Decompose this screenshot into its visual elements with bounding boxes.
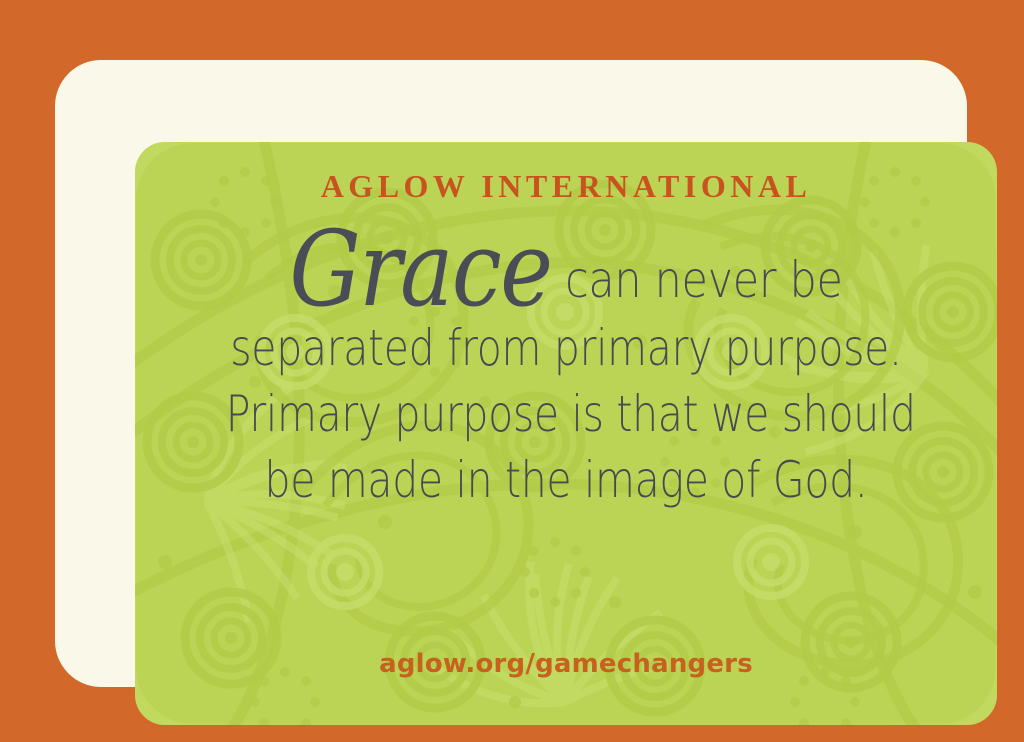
quote-line-1: Grace can never be — [209, 224, 923, 315]
cream-frame: AGLOW INTERNATIONAL Grace can never be s… — [55, 60, 967, 687]
quote-line-4: be made in the image of God. — [226, 447, 907, 513]
quote-line-1-rest: can never be — [565, 245, 842, 315]
organization-name: AGLOW INTERNATIONAL — [321, 170, 812, 202]
website-url[interactable]: aglow.org/gamechangers — [135, 649, 997, 679]
quote-block: Grace can never be separated from primar… — [151, 224, 981, 513]
green-card: AGLOW INTERNATIONAL Grace can never be s… — [135, 142, 997, 725]
script-word-grace: Grace — [289, 232, 551, 307]
quote-poster: AGLOW INTERNATIONAL Grace can never be s… — [0, 0, 1024, 742]
quote-line-3: Primary purpose is that we should — [226, 381, 907, 447]
card-content: AGLOW INTERNATIONAL Grace can never be s… — [135, 142, 997, 725]
quote-line-2: separated from primary purpose. — [226, 315, 907, 381]
